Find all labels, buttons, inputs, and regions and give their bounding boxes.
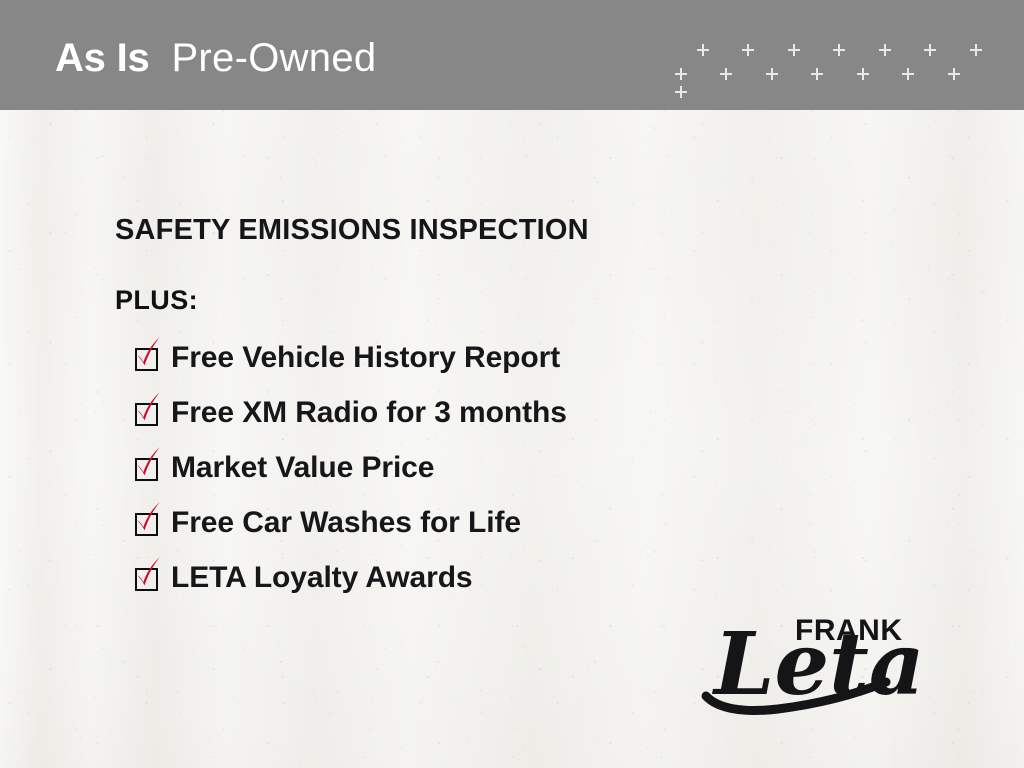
- page-title-light: Pre-Owned: [171, 36, 376, 80]
- list-item-label: LETA Loyalty Awards: [171, 562, 473, 594]
- plus-label: PLUS:: [115, 285, 198, 316]
- plus-icon: [788, 44, 800, 56]
- list-item-label: Free Car Washes for Life: [171, 507, 521, 539]
- checkbox-checked-icon[interactable]: [134, 402, 158, 426]
- checkbox-checked-icon[interactable]: [134, 457, 158, 481]
- benefits-checklist: Free Vehicle History Report Free XM Radi…: [134, 342, 894, 617]
- list-item-label: Free Vehicle History Report: [171, 342, 560, 374]
- checkbox-checked-icon[interactable]: [134, 347, 158, 371]
- plus-icon: [811, 68, 823, 80]
- page-title-bold: As Is: [55, 36, 150, 80]
- logo-top-word: FRANK: [795, 614, 903, 647]
- plus-icon: [879, 44, 891, 56]
- list-item[interactable]: Market Value Price: [134, 452, 894, 507]
- subheading: SAFETY EMISSIONS INSPECTION: [115, 214, 589, 247]
- plus-icon: [970, 44, 982, 56]
- frank-leta-logo: Leta FRANK: [700, 608, 930, 723]
- list-item-label: Market Value Price: [171, 452, 434, 484]
- plus-decoration-row-bottom: [675, 68, 1015, 82]
- plus-icon: [720, 68, 732, 80]
- list-item[interactable]: Free XM Radio for 3 months: [134, 397, 894, 452]
- plus-decoration-row-top: [675, 44, 1024, 58]
- list-item[interactable]: Free Car Washes for Life: [134, 507, 894, 562]
- header-band: As Is Pre-Owned: [0, 0, 1024, 110]
- plus-icon: [833, 44, 845, 56]
- slide-canvas: As Is Pre-Owned: [0, 0, 1024, 768]
- checkbox-checked-icon[interactable]: [134, 512, 158, 536]
- plus-icon: [766, 68, 778, 80]
- plus-icon: [924, 44, 936, 56]
- plus-icon: [857, 68, 869, 80]
- list-item[interactable]: Free Vehicle History Report: [134, 342, 894, 397]
- plus-icon: [675, 86, 687, 98]
- page-title: As Is Pre-Owned: [55, 36, 376, 80]
- plus-icon: [675, 68, 687, 80]
- list-item-label: Free XM Radio for 3 months: [171, 397, 567, 429]
- plus-icon: [697, 44, 709, 56]
- plus-icon: [742, 44, 754, 56]
- checkbox-checked-icon[interactable]: [134, 567, 158, 591]
- plus-decoration: [675, 42, 1015, 90]
- plus-icon: [902, 68, 914, 80]
- plus-icon: [948, 68, 960, 80]
